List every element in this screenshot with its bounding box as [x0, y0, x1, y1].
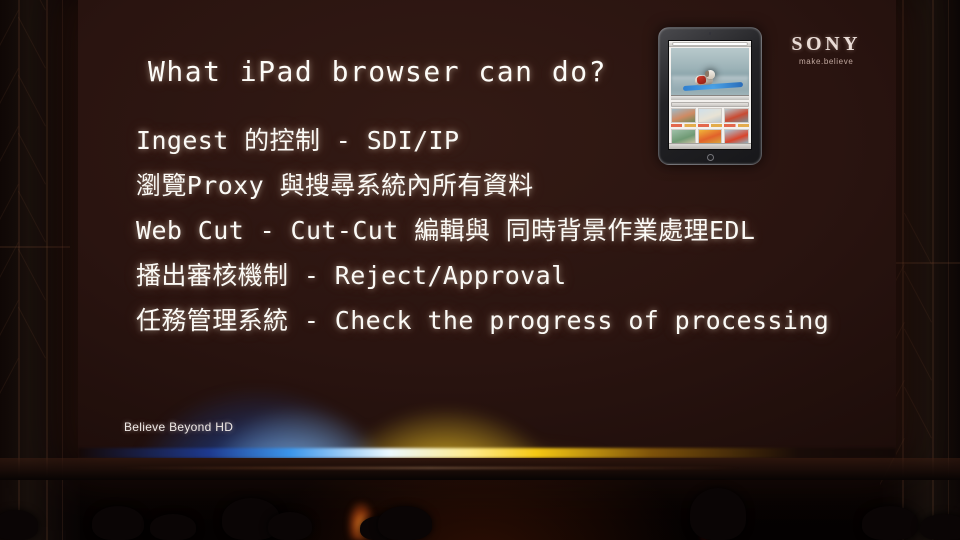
slide-footer-tagline: Believe Beyond HD: [124, 420, 233, 434]
thumbnail-item: [698, 108, 723, 127]
thumbnail-image: [724, 108, 749, 123]
thumbnail-item: [671, 108, 696, 127]
audience-head: [920, 514, 960, 540]
audience-head: [862, 506, 918, 540]
audience-head: [150, 514, 196, 540]
list-item: 瀏覽Proxy 與搜尋系統內所有資料: [136, 163, 829, 208]
video-controls-bar: [671, 95, 749, 100]
thumbnail-caption: [724, 124, 749, 127]
venue-room: What iPad browser can do? Ingest 的控制 - S…: [0, 0, 960, 540]
thumbnail-image: [671, 108, 696, 123]
audience-head: [378, 506, 432, 540]
list-item: Web Cut - Cut-Cut 編輯與 同時背景作業處理EDL: [136, 208, 829, 253]
sony-tagline: make.believe: [791, 58, 861, 66]
browser-tab-strip: [671, 102, 749, 107]
thumbnail-image: [698, 108, 723, 123]
sony-wordmark: SONY: [791, 34, 861, 54]
video-thumbnail-grid: [671, 108, 749, 148]
browser-chrome-bar: [669, 42, 751, 47]
browser-bottom-dock: [669, 143, 751, 149]
browser-url-bar: [672, 42, 748, 46]
thumbnail-caption: [671, 124, 696, 127]
audience-head: [0, 510, 38, 540]
dog-ear: [705, 71, 709, 77]
thumbnail-caption: [698, 124, 723, 127]
thumbnail-image: [671, 129, 696, 144]
thumbnail-image: [724, 129, 749, 144]
ipad-home-button-icon: [707, 154, 714, 161]
surfing-dog-shape: [695, 70, 715, 86]
audience-head: [690, 488, 746, 540]
ipad-device-image: [658, 27, 762, 165]
ipad-screen: [668, 40, 752, 150]
dog-vest: [697, 76, 707, 85]
projection-screen: What iPad browser can do? Ingest 的控制 - S…: [78, 0, 896, 458]
video-player-thumbnail: [671, 48, 749, 100]
audience-head: [268, 512, 312, 540]
list-item: 播出審核機制 - Reject/Approval: [136, 253, 829, 298]
thumbnail-item: [724, 108, 749, 127]
page-title: What iPad browser can do?: [148, 55, 607, 88]
thumbnail-image: [698, 129, 723, 144]
sony-logo: SONY make.believe: [791, 34, 861, 66]
audience-head: [92, 506, 144, 540]
ipad-camera-icon: [709, 32, 712, 35]
list-item: 任務管理系統 - Check the progress of processin…: [136, 298, 829, 343]
audience-silhouettes: [0, 445, 960, 540]
